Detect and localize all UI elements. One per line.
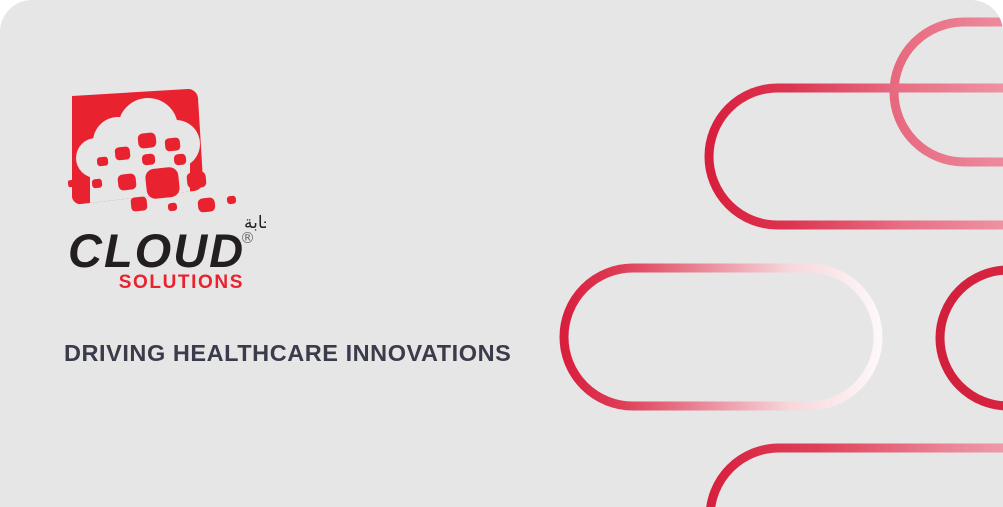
cloud-pixel-logo-icon: [64, 84, 244, 214]
trademark-symbol: ®: [240, 229, 255, 247]
tagline-heading: DRIVING HEALTHCARE INNOVATIONS: [64, 340, 511, 367]
pill-bottom: [710, 448, 1003, 507]
company-logo: حلول السحابة CLOUD ® SOLUTIONS: [64, 84, 314, 294]
pill-upper-large: [709, 88, 1003, 225]
logo-wordmark: حلول السحابة CLOUD ® SOLUTIONS: [66, 212, 266, 294]
brand-name-latin: CLOUD: [68, 224, 245, 277]
pill-middle: [564, 268, 878, 406]
pill-middle-right: [940, 270, 1003, 406]
brand-subtitle: SOLUTIONS: [119, 272, 244, 293]
promotional-banner: حلول السحابة CLOUD ® SOLUTIONS DRIVING H…: [0, 0, 1003, 507]
pill-top-right: [894, 22, 1003, 162]
